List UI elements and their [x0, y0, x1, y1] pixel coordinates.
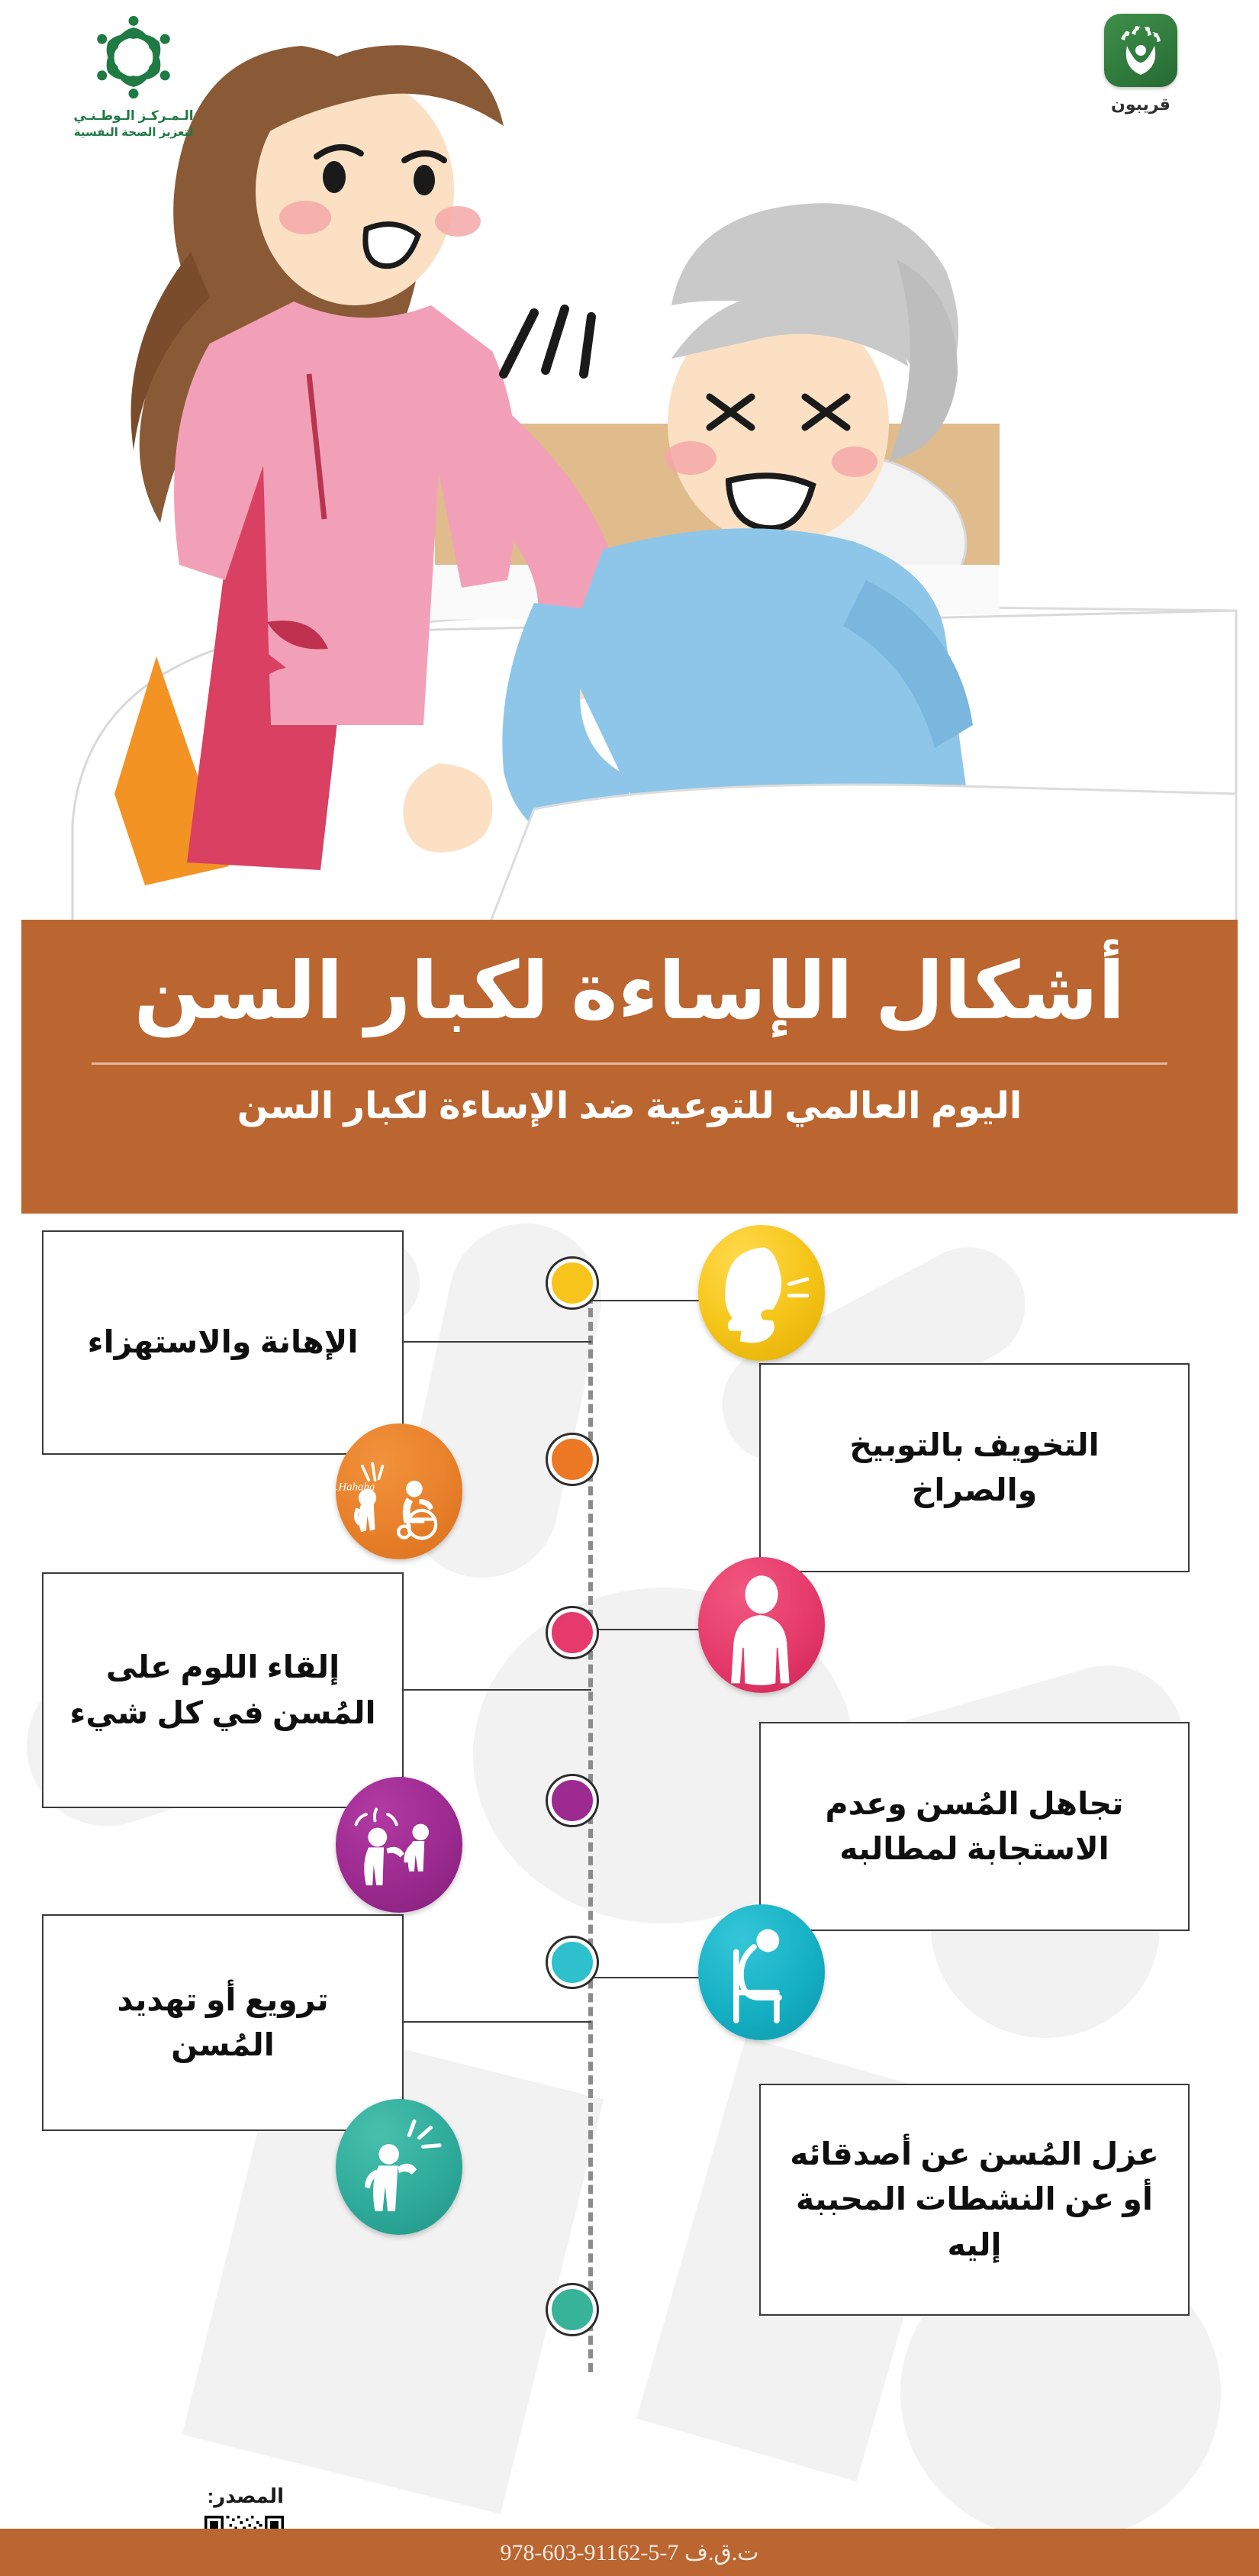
list-item[interactable]: تجاهل المُسن وعدم الاستجابة لمطالبه — [759, 1722, 1190, 1931]
org-logo-line1: الـمـركـز الـوطـنـي — [46, 108, 221, 124]
shouting-head-icon — [698, 1225, 825, 1361]
list-item[interactable]: الإهانة والاستهزاء — [42, 1230, 404, 1455]
list-item-label: ترويع أو تهديد المُسن — [43, 1978, 402, 2068]
org-logo-line2: لتعزيز الصحة النفسية — [46, 125, 221, 139]
page-subtitle: اليوم العالمي للتوعية ضد الإساءة لكبار ا… — [21, 1065, 1238, 1127]
isbn-text: ت.ق.ف 7-5-91162-603-978 — [501, 2539, 759, 2566]
org-logo: الـمـركـز الـوطـنـي لتعزيز الصحة النفسية — [46, 8, 221, 153]
abuse-forms-timeline: الإهانة والاستهزاء Hahaha... — [0, 1214, 1259, 2465]
standing-person-ignored-icon — [698, 1557, 825, 1693]
threatened-person-icon — [336, 2099, 462, 2235]
seated-person-svg — [698, 1904, 825, 2040]
list-item-label: الإهانة والاستهزاء — [43, 1320, 402, 1365]
wheelchair-mock-svg: Hahaha... — [336, 1423, 462, 1559]
app-icon-svg — [1104, 14, 1177, 87]
list-item[interactable]: التخويف بالتوبيخ والصراخ — [759, 1363, 1190, 1572]
isolated-seated-person-icon — [698, 1904, 825, 2040]
poster-root: الـمـركـز الـوطـنـي لتعزيز الصحة النفسية — [0, 0, 1259, 2576]
list-item[interactable]: ترويع أو تهديد المُسن — [42, 1914, 404, 2131]
list-item[interactable]: إلقاء اللوم على المُسن في كل شيء — [42, 1572, 404, 1808]
timeline-connector — [401, 1341, 591, 1343]
timeline-connector — [401, 1689, 591, 1691]
starburst-svg — [84, 8, 183, 107]
timeline-node[interactable] — [548, 1938, 597, 1987]
list-item-label: عزل المُسن عن أصدقائه أو عن النشطات المح… — [761, 2132, 1188, 2268]
threatened-person-svg — [336, 2099, 462, 2235]
scolding-two-people-icon — [336, 1777, 462, 1913]
list-item-label: إلقاء اللوم على المُسن في كل شيء — [43, 1645, 402, 1736]
timeline-node[interactable] — [548, 1435, 597, 1484]
elderly-mocked-wheelchair-icon: Hahaha... — [336, 1423, 462, 1559]
poster-header: الـمـركـز الـوطـنـي لتعزيز الصحة النفسية — [0, 0, 1259, 198]
footer-bar: ت.ق.ف 7-5-91162-603-978 — [0, 2529, 1259, 2576]
list-item[interactable]: عزل المُسن عن أصدقائه أو عن النشطات المح… — [759, 2084, 1190, 2316]
page-title: أشكال الإساءة لكبار السن — [21, 920, 1238, 1033]
standing-person-svg — [698, 1557, 825, 1693]
list-item-label: تجاهل المُسن وعدم الاستجابة لمطالبه — [761, 1781, 1188, 1872]
shouting-head-svg — [698, 1225, 825, 1361]
timeline-node[interactable] — [548, 2285, 597, 2334]
app-badge[interactable]: قريبون — [1080, 14, 1202, 114]
list-item-label: التخويف بالتوبيخ والصراخ — [761, 1423, 1188, 1514]
title-banner: أشكال الإساءة لكبار السن اليوم العالمي ل… — [21, 920, 1238, 1214]
timeline-node[interactable] — [548, 1259, 597, 1307]
source-label: المصدر: — [32, 2484, 284, 2508]
ncmh-starburst-logo — [84, 8, 183, 107]
timeline-connector — [401, 2021, 591, 2023]
scolding-svg — [336, 1777, 462, 1913]
app-badge-caption: قريبون — [1080, 95, 1202, 114]
timeline-node[interactable] — [548, 1776, 597, 1825]
qareeboon-app-icon[interactable] — [1104, 14, 1177, 87]
timeline-node[interactable] — [548, 1608, 597, 1657]
